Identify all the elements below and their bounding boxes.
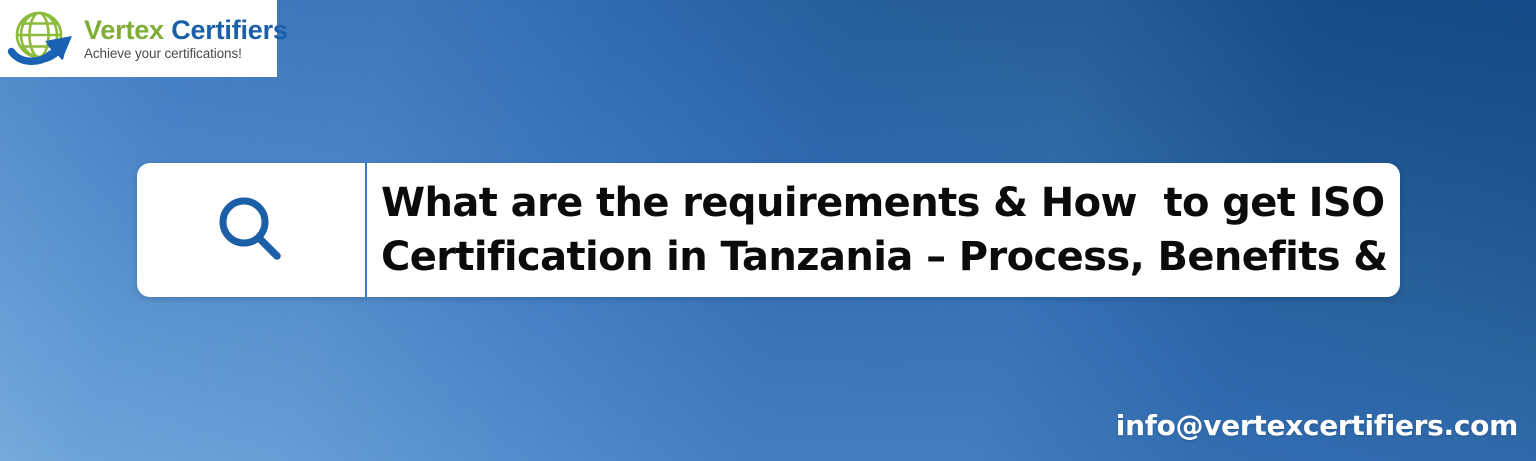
contact-email[interactable]: info@vertexcertifiers.com (1116, 409, 1518, 442)
brand-word-certifiers: Certifiers (171, 15, 288, 45)
search-query-text[interactable]: What are the requirements & How to get I… (367, 163, 1400, 297)
promo-banner: Vertex Certifiers Achieve your certifica… (0, 0, 1536, 461)
brand-tagline: Achieve your certifications! (84, 46, 288, 61)
brand-wordmark: Vertex Certifiers (84, 16, 288, 44)
search-icon-cell[interactable] (137, 163, 367, 297)
search-query-line-1: What are the requirements & How to get I… (381, 176, 1400, 230)
brand-logo-text: Vertex Certifiers Achieve your certifica… (84, 16, 288, 60)
brand-logo[interactable]: Vertex Certifiers Achieve your certifica… (0, 0, 277, 77)
globe-arrow-icon (6, 5, 80, 73)
brand-word-vertex: Vertex (84, 15, 164, 45)
search-query-line-2: Certification in Tanzania – Process, Ben… (381, 230, 1400, 284)
search-bar[interactable]: What are the requirements & How to get I… (137, 163, 1400, 297)
search-icon (213, 192, 289, 268)
